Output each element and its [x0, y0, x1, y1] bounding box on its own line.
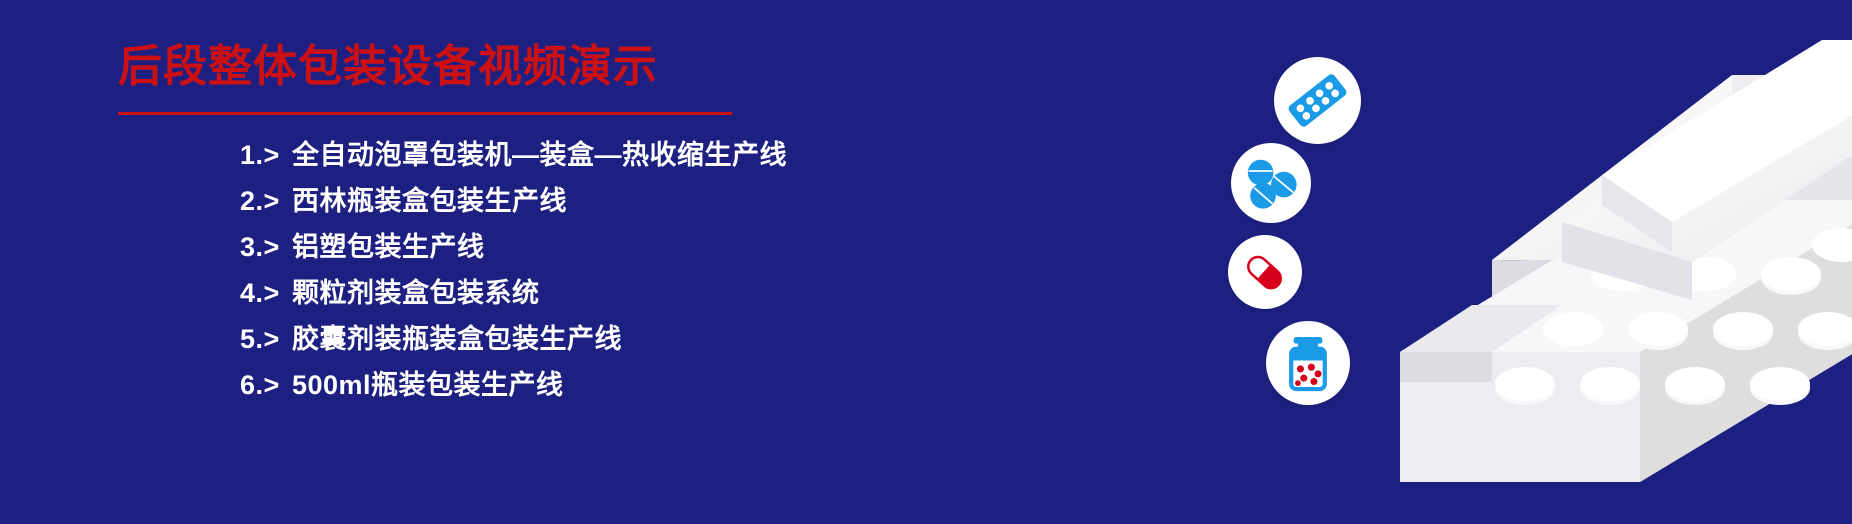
list-item-number: 5.>: [240, 324, 292, 355]
list-item-number: 3.>: [240, 232, 292, 263]
list-item-label: 西林瓶装盒包装生产线: [292, 179, 567, 218]
list-item[interactable]: 6.> 500ml瓶装包装生产线: [240, 363, 960, 409]
list-item[interactable]: 1.> 全自动泡罩包装机—装盒—热收缩生产线: [240, 133, 960, 179]
list-item[interactable]: 5.> 胶囊剂装瓶装盒包装生产线: [240, 317, 960, 363]
text-column: 后段整体包装设备视频演示 1.> 全自动泡罩包装机—装盒—热收缩生产线 2.> …: [0, 0, 1000, 524]
list-item-label: 颗粒剂装盒包装系统: [292, 271, 540, 310]
capsule-icon: [1228, 235, 1302, 309]
title-underline: [118, 112, 732, 115]
list-item-number: 6.>: [240, 370, 292, 401]
list-item-number: 1.>: [240, 140, 292, 171]
list-item-label: 全自动泡罩包装机—装盒—热收缩生产线: [292, 133, 787, 172]
list-item[interactable]: 2.> 西林瓶装盒包装生产线: [240, 179, 960, 225]
pill-bottle-icon: [1266, 321, 1350, 405]
tablets-icon: [1231, 143, 1311, 223]
list-item-number: 4.>: [240, 278, 292, 309]
promo-banner: 后段整体包装设备视频演示 1.> 全自动泡罩包装机—装盒—热收缩生产线 2.> …: [0, 0, 1852, 524]
video-list: 1.> 全自动泡罩包装机—装盒—热收缩生产线 2.> 西林瓶装盒包装生产线 3.…: [240, 133, 960, 409]
page-title: 后段整体包装设备视频演示: [118, 44, 658, 90]
list-item-label: 500ml瓶装包装生产线: [292, 363, 564, 402]
blister-pack-icon: [1274, 57, 1361, 144]
list-item[interactable]: 3.> 铝塑包装生产线: [240, 225, 960, 271]
list-item-label: 胶囊剂装瓶装盒包装生产线: [292, 317, 622, 356]
list-item[interactable]: 4.> 颗粒剂装盒包装系统: [240, 271, 960, 317]
list-item-number: 2.>: [240, 186, 292, 217]
list-item-label: 铝塑包装生产线: [292, 225, 485, 264]
